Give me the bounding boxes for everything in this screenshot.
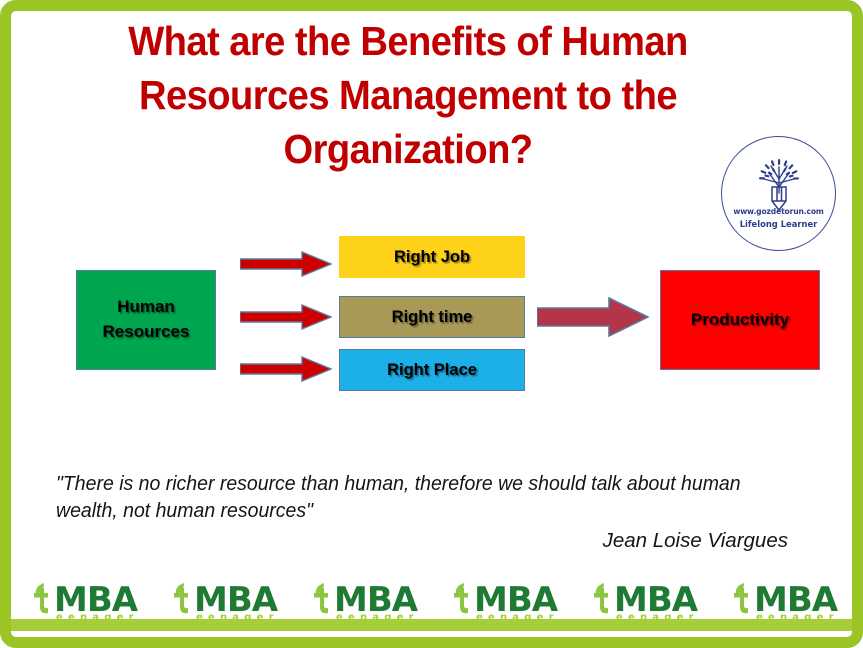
footer: MBA eenager MBA eenager [11,575,852,637]
tmba-logo: MBA eenager [167,577,285,633]
footer-logo-row: MBA eenager MBA eenager [27,577,845,633]
arrow-right-icon-1 [240,250,332,278]
sprout-t-icon [449,581,475,620]
page-title: What are the Benefits of Human Resources… [83,14,734,176]
tmba-logo-sub: eenager [336,612,419,623]
box-right-place: Right Place [339,349,525,391]
tmba-logo: MBA eenager [727,577,845,633]
tmba-logo: MBA eenager [27,577,145,633]
arrow-right-icon-2 [240,303,332,331]
tmba-logo-sub: eenager [56,612,139,623]
quote-text: "There is no richer resource than human,… [56,470,750,525]
brand-logo: www.gozdetorun.com Lifelong Learner [721,136,836,251]
arrow-right-icon-3 [240,355,332,383]
box-human-resources: Human Resources [76,270,216,370]
logo-url-text: www.gozdetorun.com [722,207,835,216]
box-productivity: Productivity [660,270,820,370]
tmba-logo: MBA eenager [447,577,565,633]
sprout-t-icon [29,581,55,620]
tmba-logo-sub: eenager [476,612,559,623]
logo-tagline-text: Lifelong Learner [722,219,835,229]
tmba-logo: MBA eenager [587,577,705,633]
sprout-t-icon [169,581,195,620]
sprout-t-icon [309,581,335,620]
tmba-logo-sub: eenager [196,612,279,623]
box-right-job: Right Job [339,236,525,278]
tmba-logo-sub: eenager [756,612,839,623]
arrow-right-icon-large [537,295,649,339]
tmba-logo-sub: eenager [616,612,699,623]
slide-canvas: What are the Benefits of Human Resources… [0,0,863,648]
sprout-t-icon [729,581,755,620]
quote-attribution: Jean Loise Viargues [56,529,788,553]
box-right-time: Right time [339,296,525,338]
sprout-t-icon [589,581,615,620]
tmba-logo: MBA eenager [307,577,425,633]
